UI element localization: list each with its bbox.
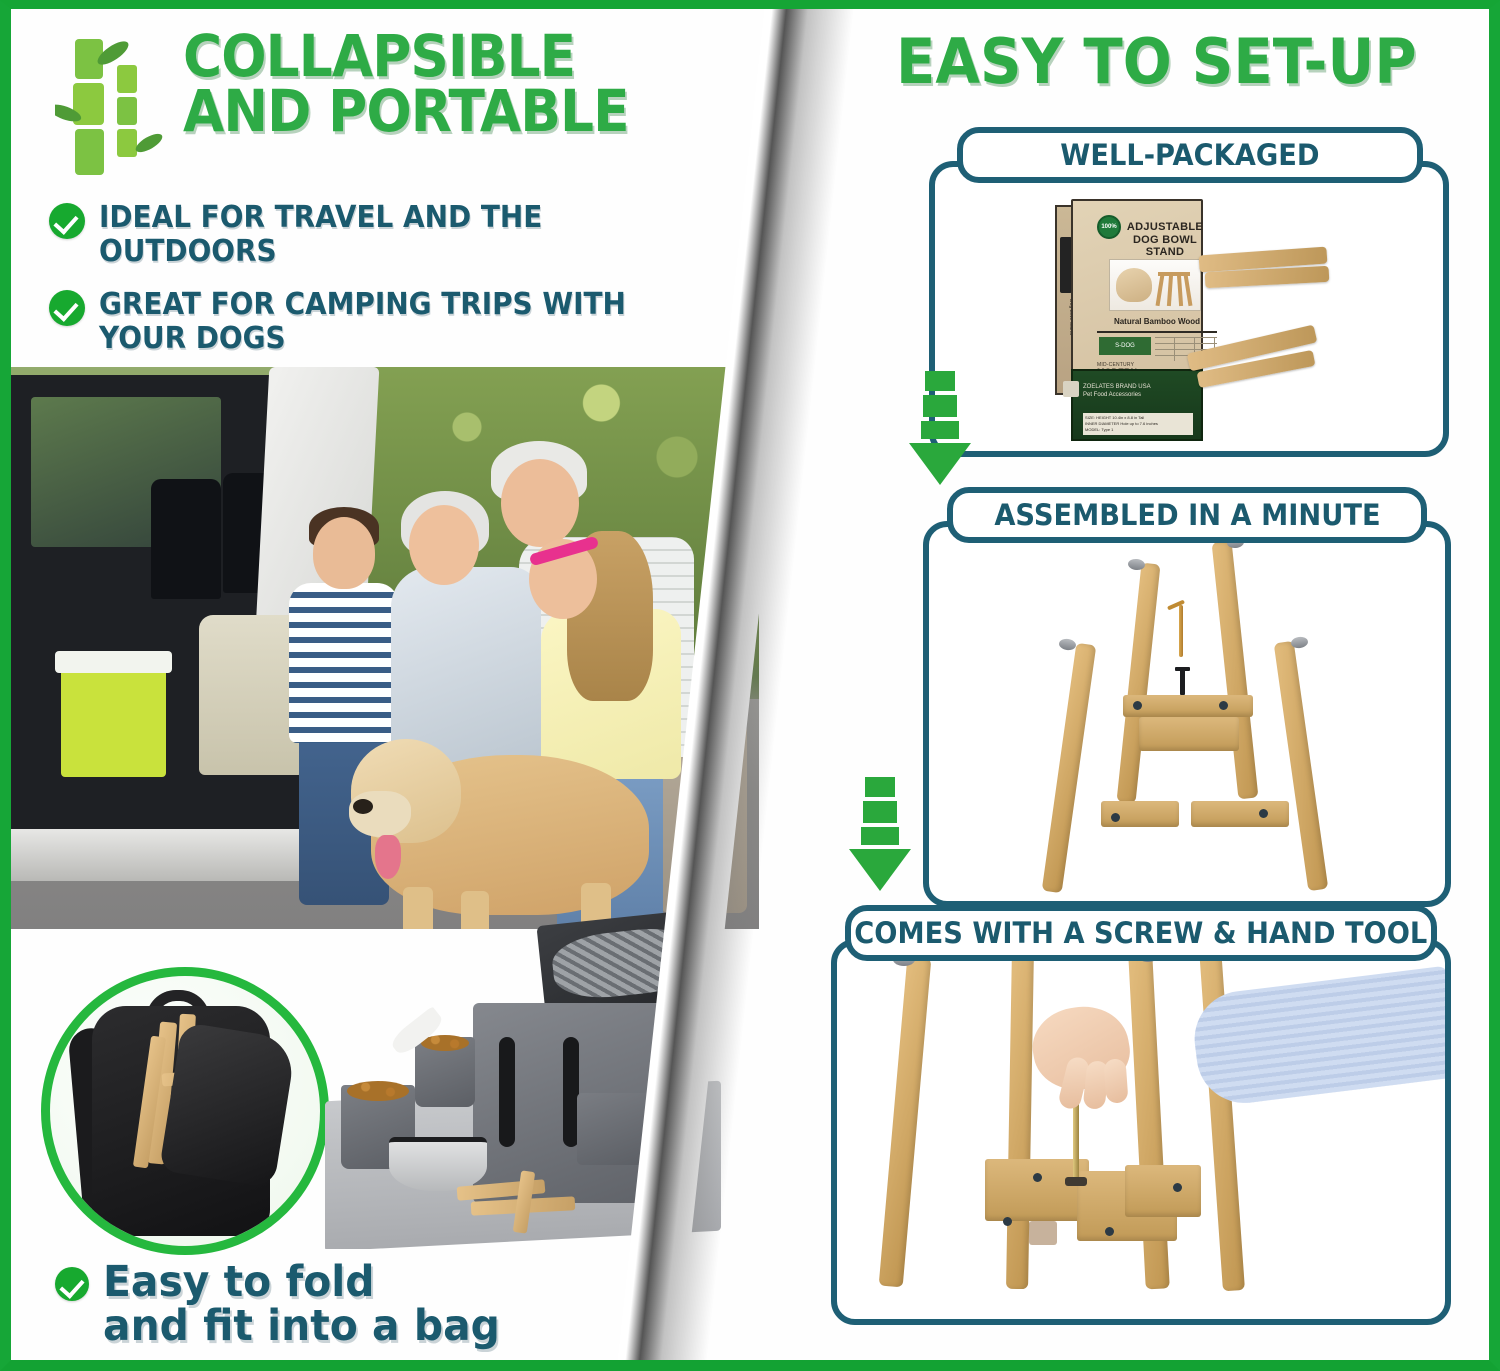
- poster-canvas: COLLAPSIBLE AND PORTABLE IDEAL FOR TRAVE…: [11, 9, 1489, 1360]
- step-image-frame: [923, 521, 1451, 907]
- box-footer-line-2: INNER DIAMETER Hole up to 7.6 inches: [1085, 421, 1158, 426]
- box-title-line-2: DOG BOWL STAND: [1133, 234, 1197, 259]
- step-well-packaged: WELL-PACKAGED Dog Bowl Stand 100% ADJUST…: [929, 127, 1449, 457]
- headline-line-2: AND PORTABLE: [183, 84, 698, 139]
- bamboo-down-arrow-icon: [909, 371, 971, 485]
- step-label-text: COMES WITH A SCREW & HAND TOOL: [855, 916, 1428, 950]
- headline-line-1: COLLAPSIBLE: [183, 29, 698, 84]
- step-label-box: ASSEMBLED IN A MINUTE: [947, 487, 1427, 543]
- step-label-box: COMES WITH A SCREW & HAND TOOL: [845, 905, 1437, 961]
- check-circle-icon: [49, 203, 85, 239]
- product-infographic-poster: COLLAPSIBLE AND PORTABLE IDEAL FOR TRAVE…: [0, 0, 1500, 1371]
- right-panel: EASY TO SET-UP WELL-PACKAGED Dog Bowl St…: [801, 9, 1489, 1358]
- box-brand-line-1: ZOELATES BRAND USA: [1083, 384, 1151, 390]
- list-item: GREAT FOR CAMPING TRIPS WITH YOUR DOGS: [49, 288, 769, 355]
- list-item: IDEAL FOR TRAVEL AND THE OUTDOORS: [49, 201, 769, 268]
- step-label-text: WELL-PACKAGED: [1060, 138, 1319, 172]
- box-footer-line-3: MODEL: Type 1: [1085, 427, 1113, 432]
- step-label-box: WELL-PACKAGED: [957, 127, 1423, 183]
- page-title: COLLAPSIBLE AND PORTABLE: [183, 29, 698, 138]
- backpack-inset-photo: [41, 967, 329, 1255]
- check-circle-icon: [55, 1267, 89, 1301]
- box-subtitle: Natural Bamboo Wood: [1109, 317, 1205, 326]
- step-image-frame: Dog Bowl Stand 100% ADJUSTABLE DOG BOWL …: [929, 161, 1449, 457]
- step-assembled-in-a-minute: ASSEMBLED IN A MINUTE: [923, 487, 1451, 907]
- fold-caption-line-1: Easy to fold: [103, 1261, 500, 1305]
- step-image-frame: [831, 939, 1451, 1325]
- step-comes-with-screw-and-hand-tool: COMES WITH A SCREW & HAND TOOL: [831, 905, 1451, 1325]
- product-box-image: Dog Bowl Stand 100% ADJUSTABLE DOG BOWL …: [1055, 191, 1215, 406]
- fold-caption: Easy to fold and fit into a bag: [55, 1261, 695, 1349]
- assembly-illustration: [929, 527, 1445, 901]
- bamboo-down-arrow-icon: [849, 777, 911, 891]
- check-circle-icon: [49, 290, 85, 326]
- hand-tool-illustration: [837, 945, 1445, 1319]
- bamboo-stalks-icon: [55, 31, 175, 186]
- box-footer-line-1: SIZE: HEIGHT 10.4in x 8.8 in Tall: [1085, 415, 1144, 420]
- fold-caption-line-2: and fit into a bag: [103, 1305, 500, 1349]
- bullet-label: GREAT FOR CAMPING TRIPS WITH YOUR DOGS: [99, 288, 722, 355]
- feature-bullet-list: IDEAL FOR TRAVEL AND THE OUTDOORS GREAT …: [49, 201, 769, 375]
- box-brand-line-2: Pet Food Accessories: [1083, 392, 1141, 398]
- box-badge: S-DOG: [1099, 337, 1151, 355]
- bullet-label: IDEAL FOR TRAVEL AND THE OUTDOORS: [99, 201, 722, 268]
- box-title-line-1: ADJUSTABLE: [1127, 221, 1203, 233]
- step-label-text: ASSEMBLED IN A MINUTE: [994, 498, 1380, 532]
- hero-lifestyle-photo: [11, 367, 759, 929]
- right-page-title: EASY TO SET-UP: [896, 31, 1454, 93]
